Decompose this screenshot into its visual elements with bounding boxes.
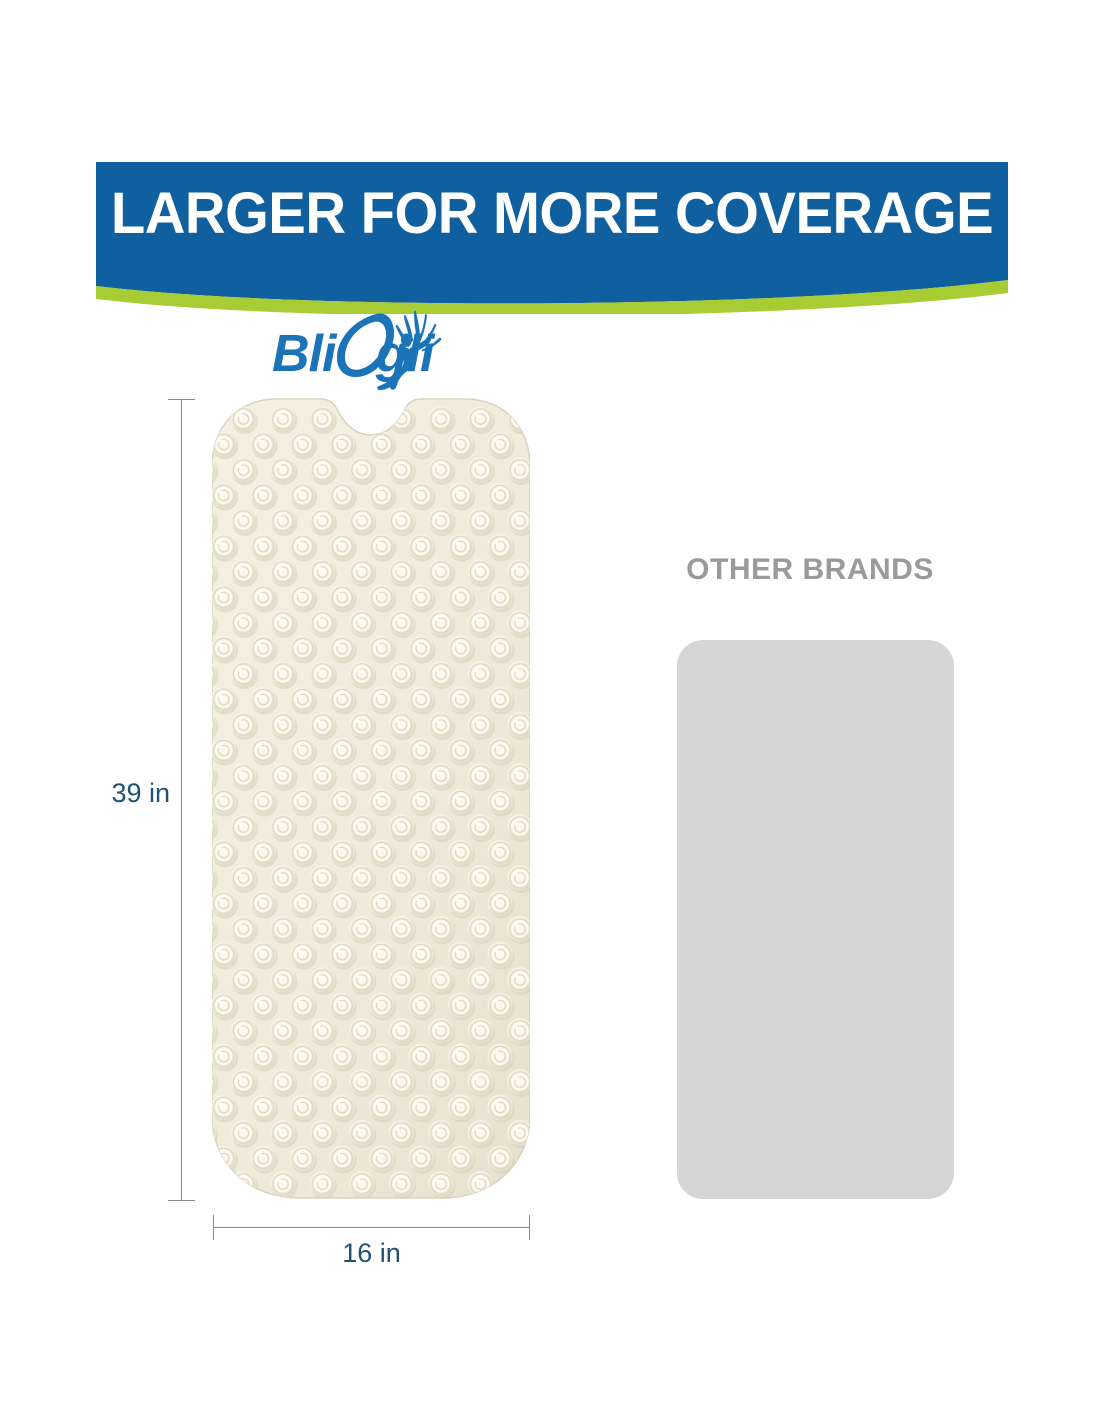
width-dimension-cap-left — [213, 1215, 214, 1240]
product-comparison-infographic: LARGER FOR MORE COVERAGE Bli gli — [0, 0, 1100, 1422]
banner-title: LARGER FOR MORE COVERAGE — [106, 180, 998, 247]
suction-cup — [212, 406, 218, 434]
height-dimension-cap-top — [168, 399, 195, 400]
brand-logo: Bli gli — [272, 316, 482, 390]
other-brands-label: OTHER BRANDS — [600, 553, 1020, 587]
fairy-butterfly-icon — [330, 304, 450, 396]
other-brands-mat — [677, 640, 954, 1199]
bath-mat-shape — [212, 397, 530, 1200]
suction-cup — [212, 1171, 218, 1199]
width-dimension-cap-right — [529, 1215, 530, 1240]
width-dimension-line — [213, 1227, 530, 1228]
suction-cup — [507, 1171, 530, 1199]
width-dimension-label: 16 in — [213, 1238, 530, 1269]
height-dimension-label: 39 in — [60, 778, 170, 809]
height-dimension-line — [181, 399, 182, 1200]
product-bath-mat — [212, 397, 530, 1200]
height-dimension-cap-bottom — [168, 1200, 195, 1201]
header-banner: LARGER FOR MORE COVERAGE — [92, 162, 1012, 314]
